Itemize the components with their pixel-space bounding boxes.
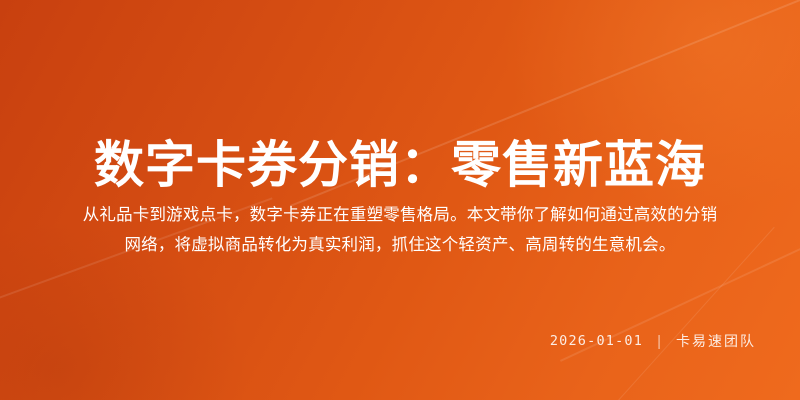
publish-date: 2026-01-01: [550, 333, 643, 349]
article-meta: 2026-01-01 | 卡易速团队: [550, 331, 756, 351]
author-name: 卡易速团队: [676, 331, 756, 351]
page-subtitle: 从礼品卡到游戏点卡，数字卡券正在重塑零售格局。本文带你了解如何通过高效的分销网络…: [78, 200, 722, 260]
article-hero-banner: 数字卡券分销：零售新蓝海 从礼品卡到游戏点卡，数字卡券正在重塑零售格局。本文带你…: [0, 0, 800, 400]
banner-content: 数字卡券分销：零售新蓝海 从礼品卡到游戏点卡，数字卡券正在重塑零售格局。本文带你…: [0, 0, 800, 400]
page-title: 数字卡券分销：零售新蓝海: [0, 134, 800, 196]
meta-separator: |: [657, 334, 662, 349]
